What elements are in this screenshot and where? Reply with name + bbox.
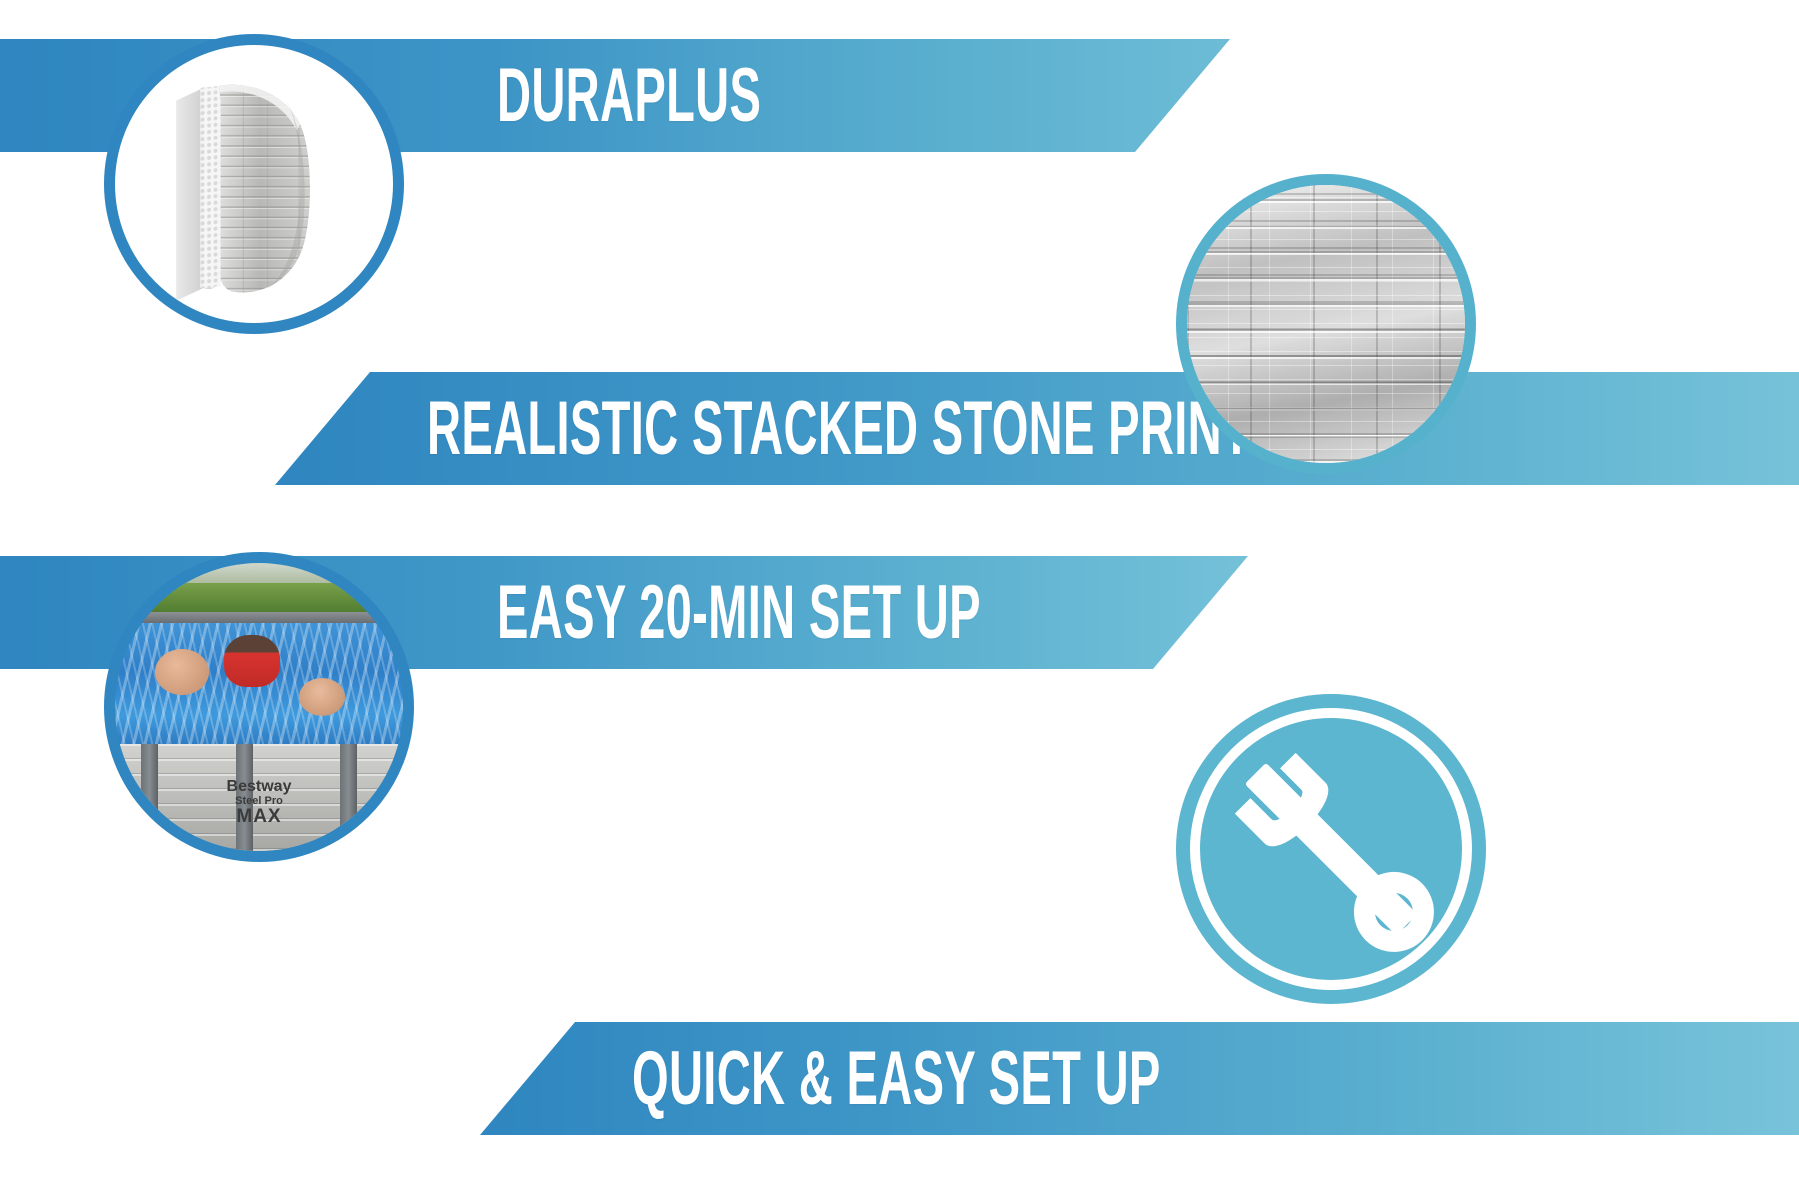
brand-name: Bestway xyxy=(227,779,292,796)
stacked-stone-texture-icon xyxy=(1176,174,1476,474)
no-tools-required-icon xyxy=(1176,694,1486,1004)
feature-banner-stacked-stone: REALISTIC STACKED STONE PRINT xyxy=(275,372,1799,485)
pool-scene: Bestway Steel Pro MAX xyxy=(115,563,403,851)
grass-band xyxy=(115,583,403,615)
feature-banner-quick-easy: QUICK & EASY SET UP xyxy=(480,1022,1799,1135)
feature-label-duraplus: DURAPLUS xyxy=(497,52,761,139)
pool-wall-cross-section-icon xyxy=(104,34,404,334)
pool-lifestyle-photo-icon: Bestway Steel Pro MAX xyxy=(104,552,414,862)
prohibition-slash xyxy=(1245,763,1418,936)
stone-texture-fill xyxy=(1187,185,1465,463)
pool-support-post-left xyxy=(141,744,158,851)
swimmer-adult-female xyxy=(224,635,280,687)
pool-brand-logo: Bestway Steel Pro MAX xyxy=(227,779,292,827)
feature-label-stacked-stone: REALISTIC STACKED STONE PRINT xyxy=(427,385,1251,472)
wall-cross-section-svg xyxy=(115,45,393,323)
infographic-stage: DURAPLUS xyxy=(0,0,1799,1200)
feature-label-easy-setup: EASY 20-MIN SET UP xyxy=(497,569,981,656)
pool-support-post-right xyxy=(340,744,357,851)
brand-model: MAX xyxy=(227,807,292,827)
feature-label-quick-easy: QUICK & EASY SET UP xyxy=(632,1035,1161,1122)
wrench-no-tools-svg xyxy=(1176,694,1486,1004)
